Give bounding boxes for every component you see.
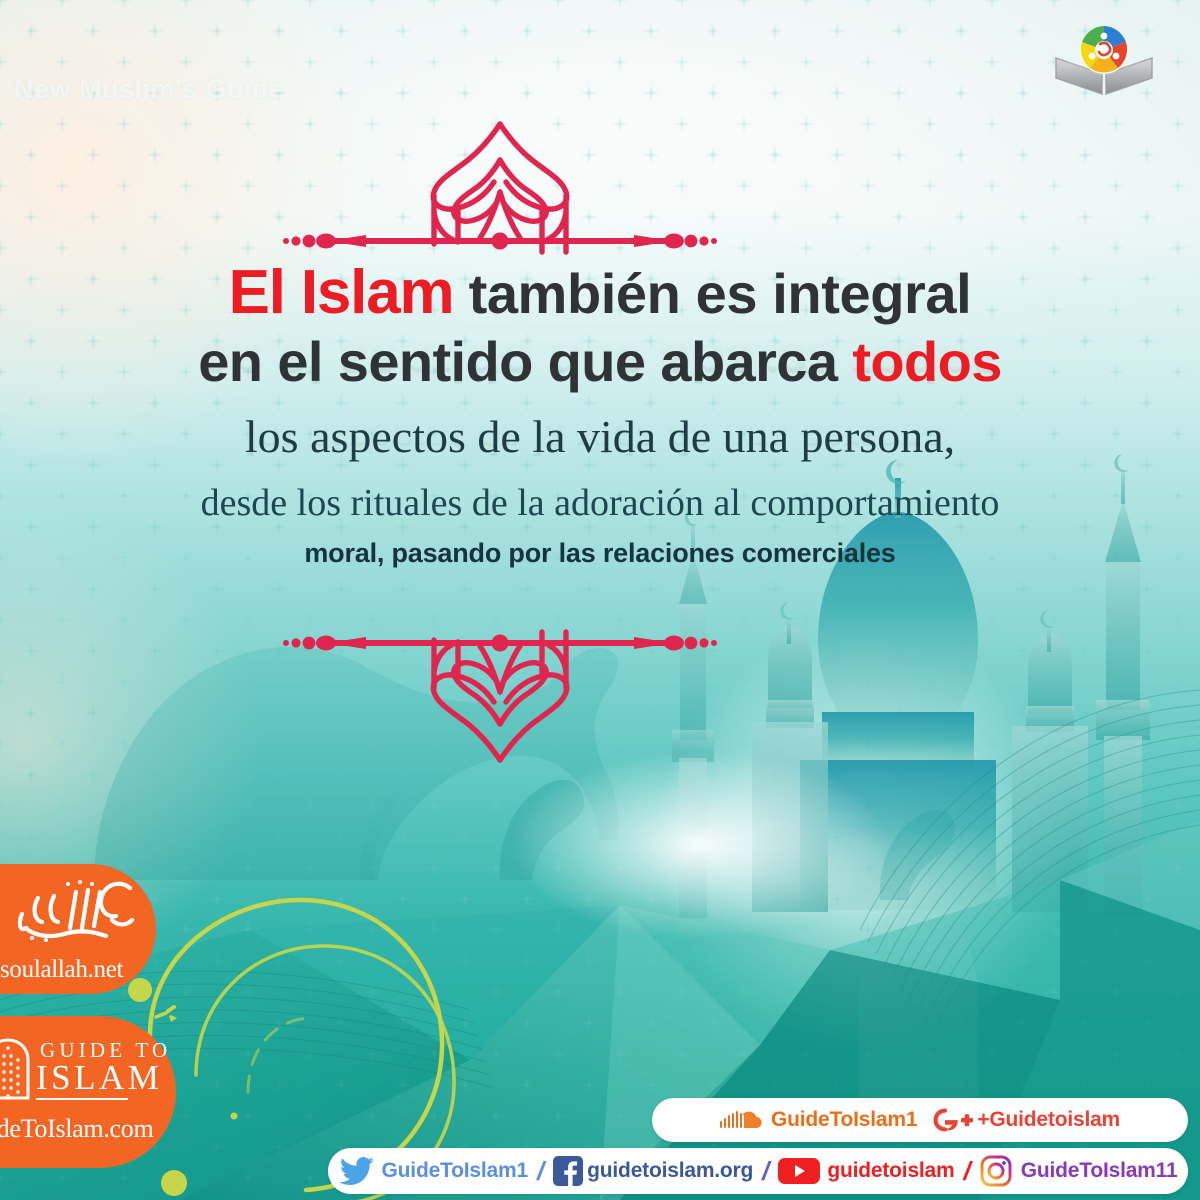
social-item-soundcloud[interactable]: GuideToIslam1	[720, 1108, 917, 1132]
twitter-icon	[339, 1156, 375, 1186]
facebook-icon	[553, 1156, 583, 1186]
ornament-top-islamic-arch	[282, 116, 718, 266]
headline-line1-rest: también es integral	[453, 262, 971, 325]
badge-rasoulallah-label: Rasoulallah.net	[0, 956, 138, 984]
social-label-instagram: GuideToIslam11	[1021, 1159, 1178, 1183]
social-item-youtube[interactable]: guidetoislam	[778, 1156, 954, 1186]
headline-line-2: en el sentido que abarca todos	[0, 334, 1200, 390]
instagram-icon	[980, 1155, 1012, 1187]
badge-rasoulallah[interactable]: Rasoulallah.net	[0, 864, 156, 994]
social-item-twitter[interactable]: GuideToIslam1	[339, 1156, 528, 1186]
headline-accent-el-islam: El Islam	[229, 258, 454, 327]
social-label-facebook: guidetoislam.org	[587, 1159, 753, 1183]
headline-line-1: El Islam también es integral	[0, 262, 1200, 324]
headline-line-4: desde los rituales de la adoración al co…	[0, 484, 1200, 522]
headline-line-3: los aspectos de la vida de una persona,	[0, 414, 1200, 460]
headline-line-2-wrap: en el sentido que abarca todos en el sen…	[0, 334, 1200, 390]
badge-guide-line2: ISLAM	[36, 1060, 162, 1095]
poster-canvas: New Muslim's Guide	[0, 0, 1200, 1200]
social-bar-bottom: GuideToIslam1 / guidetoislam.org / guide…	[328, 1148, 1188, 1194]
social-item-facebook[interactable]: guidetoislam.org	[553, 1156, 753, 1186]
social-label-googleplus: +Guidetoislam	[977, 1108, 1120, 1132]
googleplus-icon	[931, 1107, 973, 1133]
social-separator-2: /	[762, 1156, 769, 1187]
social-item-instagram[interactable]: GuideToIslam11	[980, 1155, 1178, 1187]
headline-accent-todos: todos	[852, 330, 1001, 393]
headline-line2-a: en el sentido que abarca	[198, 330, 852, 393]
social-bar-top: GuideToIslam1 +Guidetoislam	[652, 1098, 1188, 1142]
social-label-soundcloud: GuideToIslam1	[771, 1108, 917, 1132]
social-separator-3: /	[964, 1156, 971, 1187]
badge-guide-label: GuideToIslam.com	[0, 1114, 156, 1144]
social-item-googleplus[interactable]: +Guidetoislam	[931, 1107, 1120, 1133]
guide-to-islam-globe-book-logo[interactable]	[1048, 22, 1160, 98]
badge-guide-rule	[36, 1098, 128, 1100]
headline-line-3-wrap: los aspectos de la vida de una persona, …	[0, 414, 1200, 462]
background-watermark: New Muslim's Guide	[14, 74, 284, 105]
headline-block: El Islam también es integral en el senti…	[0, 262, 1200, 567]
youtube-icon	[778, 1156, 820, 1186]
social-separator-1: /	[537, 1156, 544, 1187]
soundcloud-icon	[720, 1108, 764, 1132]
badge-guide-to-islam[interactable]: GUIDE TO ISLAM GuideToIslam.com	[0, 1016, 176, 1168]
rasoulallah-arabic-calligraphy-icon	[2, 874, 142, 948]
mihrab-arch-icon	[0, 1038, 32, 1100]
headline-line-5: moral, pasando por las relaciones comerc…	[0, 540, 1200, 567]
social-label-youtube: guidetoislam	[827, 1159, 954, 1183]
social-label-twitter: GuideToIslam1	[382, 1159, 528, 1183]
ornament-bottom-islamic-arch	[282, 618, 718, 768]
